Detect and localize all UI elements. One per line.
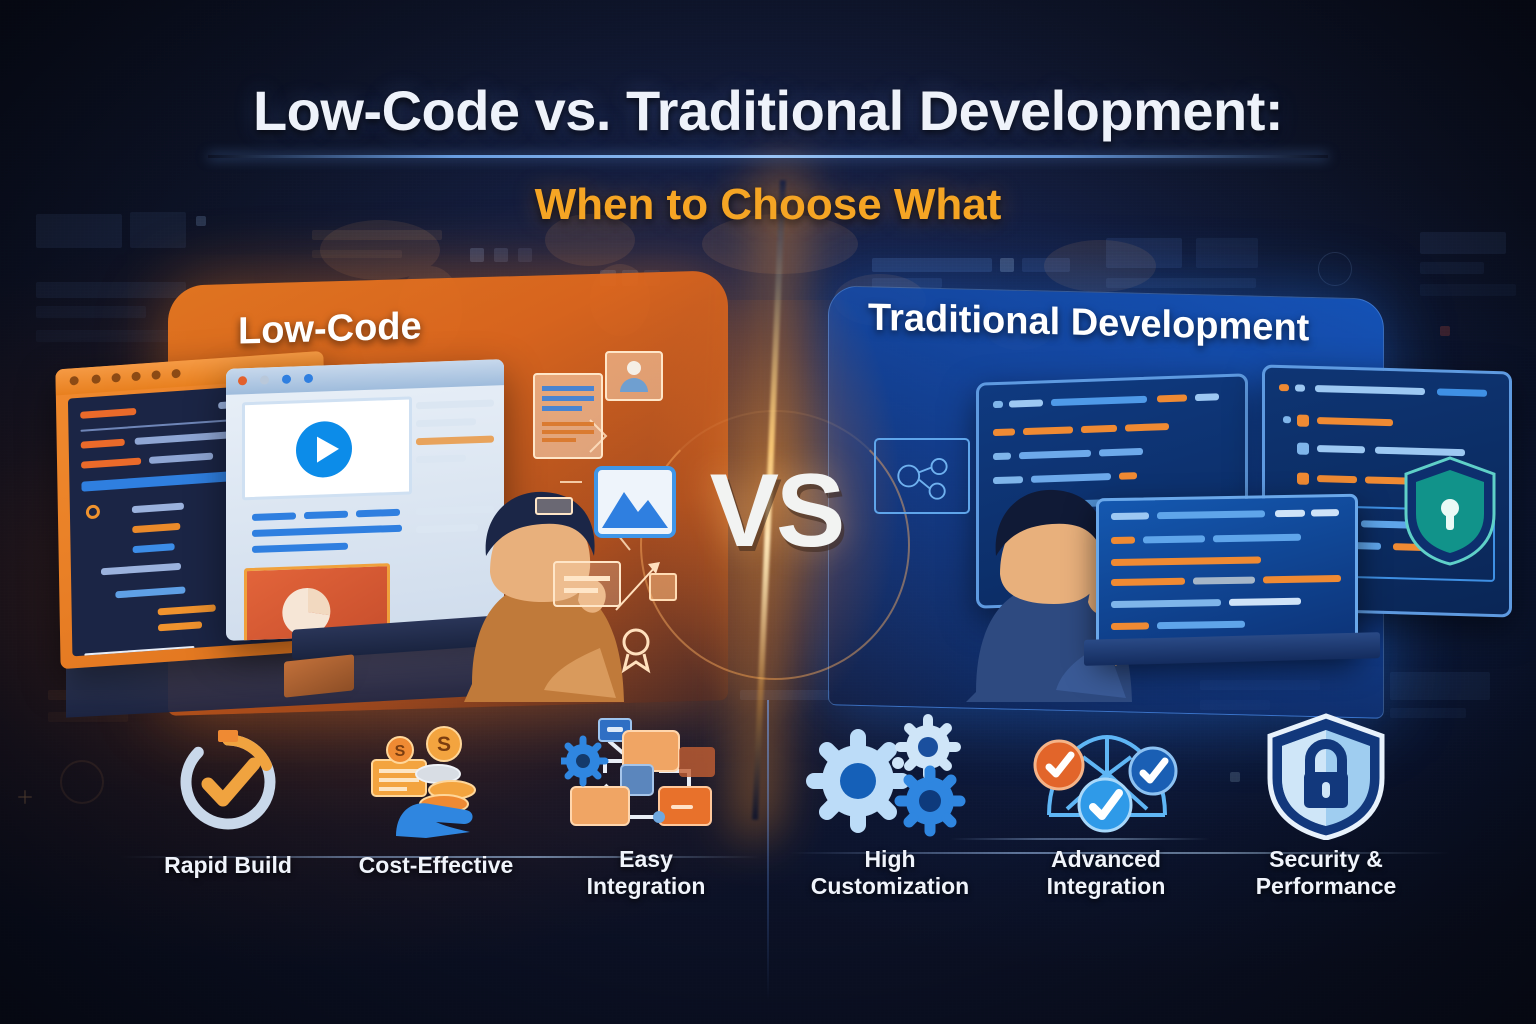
shield-lock-icon	[1226, 716, 1426, 836]
desk-notebook	[284, 654, 354, 697]
infographic-canvas: Low-Code vs. Traditional Development: Wh…	[0, 0, 1536, 1024]
panel-shield-icon	[1398, 452, 1502, 570]
gear-icon	[561, 739, 605, 783]
feature-easy-integration[interactable]: Easy Integration	[546, 716, 746, 900]
feature-label: Rapid Build	[128, 852, 328, 879]
versus-badge: VS	[686, 452, 866, 571]
network-checks-icon	[1006, 716, 1206, 836]
feature-label: Advanced Integration	[1006, 846, 1206, 900]
flowchart-gear-icon	[546, 716, 746, 836]
feature-row: Rapid Build S S Cost-Effective	[0, 712, 1536, 962]
header-block: Low-Code vs. Traditional Development: Wh…	[0, 78, 1536, 230]
feature-advanced-integration[interactable]: Advanced Integration	[1006, 716, 1206, 900]
hand-coins-icon: S S	[336, 722, 536, 842]
gear-large	[814, 737, 902, 825]
feature-security-performance[interactable]: Security & Performance	[1226, 716, 1426, 900]
gears-icon	[790, 716, 990, 836]
stopwatch-check-icon	[128, 722, 328, 842]
feature-label: Cost-Effective	[336, 852, 536, 879]
badge-icon	[624, 630, 648, 670]
feature-high-customization[interactable]: High Customization	[790, 716, 990, 900]
feature-cost-effective[interactable]: S S Cost-Effective	[336, 722, 536, 879]
svg-text:S: S	[437, 733, 451, 756]
page-subtitle: When to Choose What	[0, 180, 1536, 230]
gear-small-bottom	[900, 771, 960, 831]
feature-label: Easy Integration	[546, 846, 746, 900]
feature-label: High Customization	[790, 846, 990, 900]
play-icon	[294, 418, 354, 480]
svg-text:S: S	[395, 743, 406, 760]
title-divider	[208, 155, 1328, 158]
feature-label: Security & Performance	[1226, 846, 1426, 900]
low-code-floating-widgets	[520, 350, 710, 680]
feature-rapid-build[interactable]: Rapid Build	[128, 722, 328, 879]
panel-left-heading: Low-Code	[238, 305, 422, 353]
page-title: Low-Code vs. Traditional Development:	[0, 78, 1536, 143]
